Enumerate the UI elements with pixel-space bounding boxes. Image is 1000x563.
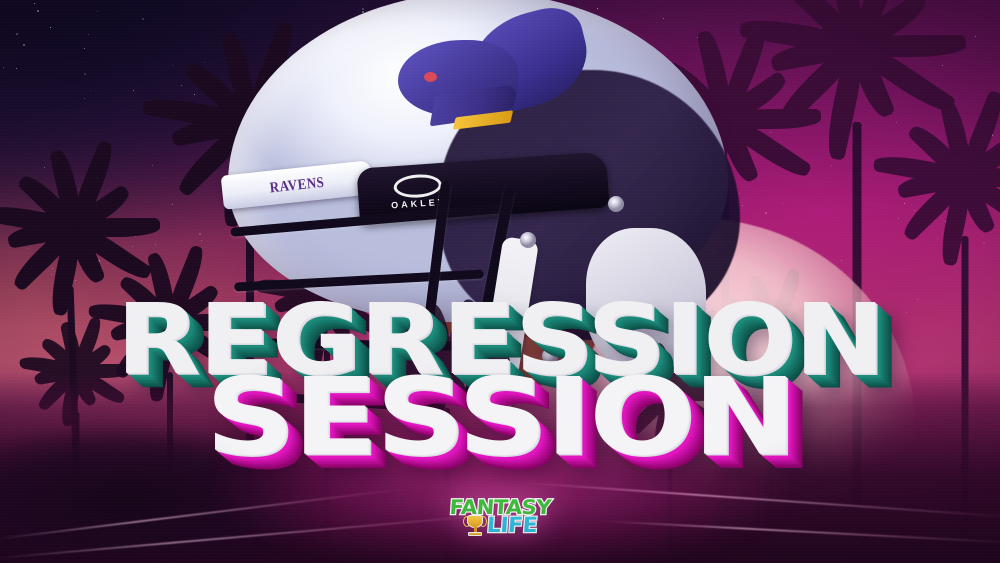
- title-block: REGRESSION SESSION: [0, 300, 1000, 463]
- logo-life-text: LIFE: [486, 515, 538, 536]
- trophy-icon: [464, 514, 486, 538]
- fantasy-life-logo[interactable]: FANTASY LIFE: [440, 489, 560, 545]
- star: [97, 11, 98, 12]
- raven-eye: [424, 72, 437, 82]
- star: [142, 18, 144, 20]
- star: [16, 68, 17, 69]
- trophy-base: [468, 532, 482, 536]
- helmet-rivet: [608, 196, 624, 212]
- facemask-bar: [230, 204, 502, 237]
- star: [34, 3, 35, 4]
- logo-bottom-row: LIFE: [464, 514, 536, 538]
- star: [37, 10, 39, 12]
- star: [90, 90, 91, 91]
- star: [3, 67, 4, 68]
- star: [133, 90, 134, 91]
- star: [23, 44, 25, 46]
- star: [88, 34, 89, 35]
- title-line-2: SESSION: [0, 372, 1000, 463]
- star: [16, 33, 18, 35]
- star: [975, 36, 976, 37]
- star: [50, 27, 51, 28]
- star: [84, 48, 85, 49]
- star: [84, 73, 86, 75]
- promo-graphic: RAVENS OAKLEY REGRESSION SESSION FANTASY: [0, 0, 1000, 563]
- star: [84, 98, 85, 99]
- ravens-team-logo-icon: [368, 14, 598, 164]
- helmet-rivet: [520, 232, 536, 248]
